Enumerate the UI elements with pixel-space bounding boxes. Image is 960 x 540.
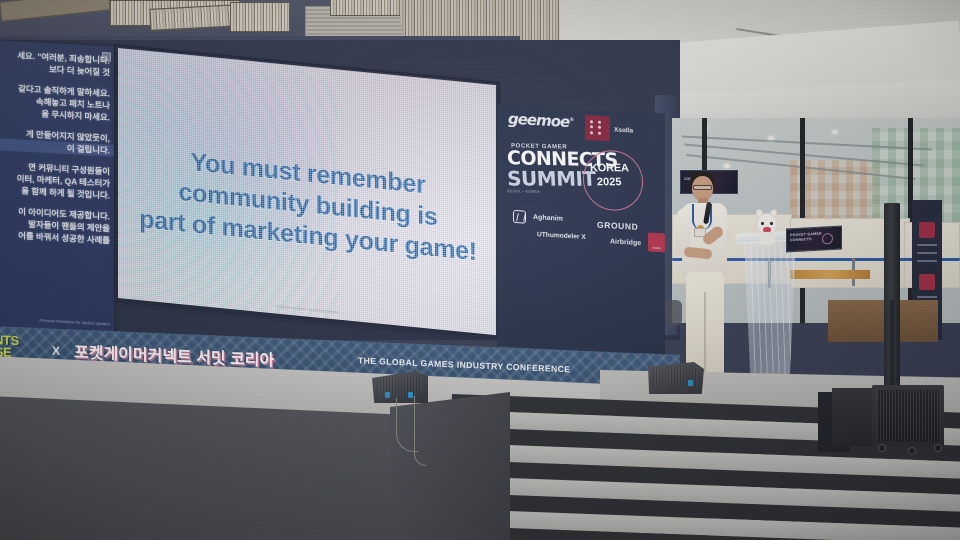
- presenter-leg-split: [704, 292, 706, 372]
- banner-separator: X: [52, 344, 60, 358]
- audio-cable: [414, 396, 426, 466]
- sponsor-unimodeler: UThumodeler X: [537, 231, 586, 241]
- podium-sign: POCKET GAMER CONNECTS: [786, 226, 842, 253]
- sponsor-corner-badge-text: Xsolla: [649, 245, 664, 250]
- xsolla-logo-mark: [585, 115, 610, 141]
- banner-logo-mark: [919, 222, 935, 238]
- presenter: [668, 172, 740, 390]
- geemoe-logo: geemoe®: [508, 110, 573, 132]
- ceiling-lamp-icon: [832, 130, 838, 134]
- xlr-connector-icon: [688, 380, 693, 386]
- wooden-directional-sign: [790, 270, 870, 279]
- translation-credit: AI-based translation for pitched speaker: [0, 315, 110, 326]
- stage-monitor-speaker: [648, 362, 704, 394]
- ceiling-lamp-icon: [724, 164, 730, 168]
- xlr-connector-icon: [385, 392, 390, 398]
- speaker-grill: [877, 390, 939, 442]
- sponsor-logo-row: Aghanim GROUND UThumodeler X Airbridge X…: [505, 212, 663, 221]
- event-region-label: KOREA: [590, 162, 629, 174]
- acrylic-podium: [742, 236, 796, 384]
- glasses-icon: [693, 185, 712, 190]
- registered-mark-icon: ®: [569, 117, 573, 123]
- banner-text-line: [917, 296, 937, 298]
- subwoofer: [872, 385, 944, 447]
- speaker-grill: [377, 376, 422, 396]
- main-led-screen: You must remember community building is …: [118, 48, 496, 335]
- banner-text-line: [917, 244, 937, 246]
- geemoe-logo-text: geemoe: [508, 110, 569, 131]
- banner-text-line: [917, 252, 937, 254]
- conference-photo: CONNECTS 세요. "여러분, 죄송합니다. 보다 더 늦어질 것 같다고…: [0, 0, 960, 540]
- ceiling-panel: [0, 0, 111, 22]
- xsolla-dots-icon: [590, 120, 605, 136]
- mascot-eye: [770, 222, 773, 225]
- caster-wheel-icon: [878, 444, 886, 452]
- sponsor-corner-badge: Xsolla: [648, 232, 665, 252]
- partner-logo-left: ENTS RSE: [0, 334, 19, 359]
- mascot-body: [759, 232, 775, 245]
- banner-logo-mark: [919, 274, 935, 290]
- translation-lines: 세요. "여러분, 죄송합니다. 보다 더 늦어질 것 같다고 솔직하게 말하세…: [0, 48, 114, 247]
- sponsor-airbridge: Airbridge: [610, 238, 641, 247]
- bookshelf: [230, 2, 290, 32]
- mascot-eye: [761, 222, 764, 225]
- aghanim-logo-icon: [513, 210, 526, 224]
- caster-wheel-icon: [934, 444, 942, 452]
- wooden-table: [828, 300, 938, 342]
- slide-text: You must remember community building is …: [132, 141, 484, 269]
- sponsor-ground: GROUND: [597, 220, 638, 232]
- translation-screen: 세요. "여러분, 죄송합니다. 보다 더 늦어질 것 같다고 솔직하게 말하세…: [0, 40, 114, 335]
- banner-text-line: [917, 260, 937, 262]
- caster-wheel-icon: [908, 447, 916, 455]
- podium-sign-circle-icon: [822, 233, 833, 245]
- ceiling-lamp-icon: [768, 136, 774, 140]
- banner-tagline: THE GLOBAL GAMES INDUSTRY CONFERENCE: [358, 355, 570, 374]
- mascot-plush: [754, 213, 780, 245]
- xsolla-logo-text: Xsolla: [614, 127, 633, 135]
- sponsor-banner: geemoe® Xsolla POCKET GAMER CONNECTS SUM…: [497, 104, 665, 355]
- sponsor-aghanim: Aghanim: [533, 214, 563, 223]
- event-year-label: 2025: [597, 176, 622, 188]
